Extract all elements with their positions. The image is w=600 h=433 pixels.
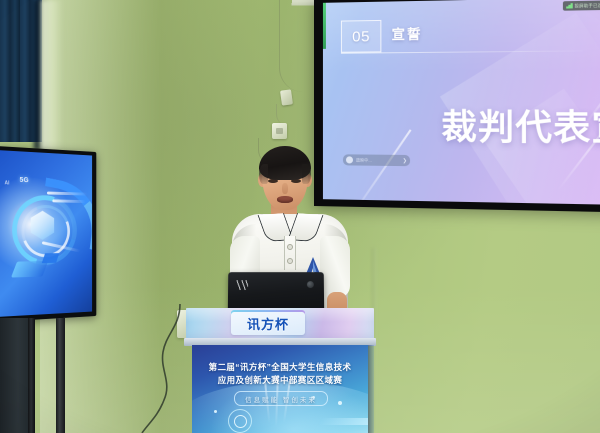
status-badge-label: 投屏助手已连接 <box>575 2 600 9</box>
photo-scene: 5G AI 05 宣誓 裁判代表宣 投屏助手已连接 <box>0 0 600 433</box>
podium-brand-logo: 讯方杯 <box>231 312 305 335</box>
banner-ring-inner <box>234 415 247 428</box>
podium-side-edge <box>368 345 374 433</box>
nose <box>282 183 288 194</box>
chevron-right-icon[interactable]: ❯ <box>403 157 407 163</box>
slide-section-title: 宣誓 <box>392 23 423 43</box>
ceiling-cable <box>279 0 306 92</box>
slide-main-title: 裁判代表宣 <box>441 99 600 151</box>
tv-screen: 5G AI <box>0 150 92 317</box>
laptop-logo-icon <box>236 280 248 290</box>
tv-5g-label: 5G <box>20 177 29 184</box>
podium-banner-title: 第二届“讯方杯”全国大学生信息技术 应用及创新大赛中部赛区区域赛 <box>192 361 368 387</box>
banner-dot-1 <box>214 410 217 413</box>
tv-stand-base <box>0 318 30 433</box>
banner-light-bar <box>318 418 368 425</box>
tv-block-a <box>11 261 48 278</box>
podium-tagline-pill: 信息赋能 智创未来 <box>234 391 328 406</box>
wall-outlet-upper <box>272 123 287 139</box>
podium-top-surface: 讯方杯 <box>186 308 374 340</box>
banner-dot-3 <box>338 401 342 405</box>
podium-tagline: 信息赋能 智创未来 <box>245 394 317 404</box>
tv-stand-pole-back <box>28 318 35 433</box>
tv-stand-pole <box>56 318 65 433</box>
shirt-button-top <box>287 244 293 250</box>
podium-banner: 第二届“讯方杯”全国大学生信息技术 应用及创新大赛中部赛区区域赛 信息赋能 智创… <box>192 345 368 433</box>
slide-number-box: 05 <box>341 20 381 53</box>
signal-bars-icon <box>566 3 573 8</box>
laptop-hinge-dot-icon <box>307 281 314 288</box>
hair-side-right <box>302 164 311 184</box>
screen-diagonal-line-a <box>342 129 412 205</box>
screen-green-accent <box>323 3 326 49</box>
tv-ai-label: AI <box>5 180 10 186</box>
podium-banner-line2: 应用及创新大赛中部赛区区域赛 <box>192 374 368 387</box>
mouth <box>277 196 293 203</box>
left-display-tv: 5G AI <box>0 146 96 322</box>
projection-screen-frame: 05 宣誓 裁判代表宣 投屏助手已连接 放映中… ❯ <box>314 0 600 212</box>
sleeve-right <box>320 236 350 298</box>
shirt-placket <box>284 236 296 270</box>
podium: 讯方杯 第二届“讯方杯”全国大学生信息技术 应用及创新大赛中部赛区区域赛 信息赋… <box>186 308 374 433</box>
hair-side-left <box>259 164 268 184</box>
banner-glow <box>192 381 368 433</box>
shirt-button-bottom <box>287 258 293 264</box>
podium-brand-text: 讯方杯 <box>247 314 289 333</box>
podium-banner-line1: 第二届“讯方杯”全国大学生信息技术 <box>192 361 368 374</box>
playback-control[interactable]: 放映中… ❯ <box>343 154 410 166</box>
playback-label: 放映中… <box>356 157 400 164</box>
projection-screen-surface: 05 宣誓 裁判代表宣 投屏助手已连接 放映中… ❯ <box>323 0 600 205</box>
slide-number: 05 <box>352 28 370 45</box>
status-badge: 投屏助手已连接 <box>562 0 600 10</box>
curtain-light-edge <box>41 0 63 150</box>
